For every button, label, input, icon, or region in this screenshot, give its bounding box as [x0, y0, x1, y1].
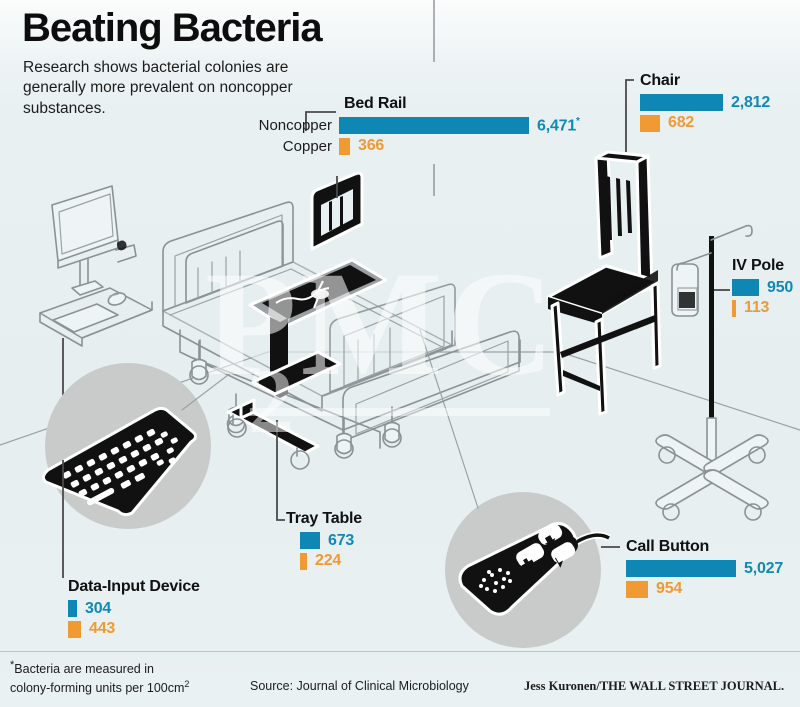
callout-chair-title: Chair: [640, 72, 770, 90]
bed-caster: [335, 418, 353, 458]
bar-row-copper: 682: [640, 114, 770, 132]
bar-copper: [339, 138, 350, 155]
callout-data-input-device: Data-Input Device 304 443: [68, 578, 200, 638]
bar-row-copper: 113: [732, 299, 793, 317]
callout-tray-table-title: Tray Table: [286, 510, 362, 528]
page-title: Beating Bacteria: [22, 8, 322, 48]
callout-iv-pole-title: IV Pole: [732, 257, 793, 275]
callout-tray-table: Tray Table 673 224: [286, 510, 362, 570]
callout-data-input-device-title: Data-Input Device: [68, 578, 200, 596]
bar-noncopper: [339, 117, 529, 134]
value-copper: 443: [81, 620, 115, 638]
source-credit: Source: Journal of Clinical Microbiology: [250, 678, 469, 695]
legend-label-noncopper: Noncopper: [244, 117, 339, 134]
bar-noncopper: [732, 279, 759, 296]
bar-row-copper: 443: [68, 620, 200, 638]
footnote: *Bacteria are measured in colony-forming…: [10, 658, 225, 697]
call-button-inset: [420, 330, 620, 648]
value-copper: 682: [660, 114, 694, 132]
callout-bed-rail: Bed Rail Noncopper 6,471* Copper 366: [344, 95, 580, 155]
footnote-line2: colony-forming units per 100cm: [10, 681, 184, 695]
value-noncopper: 304: [77, 600, 111, 618]
page-subtitle: Research shows bacterial colonies are ge…: [23, 58, 313, 119]
data-input-device-inset: [43, 363, 232, 578]
footer-divider: [0, 651, 800, 652]
legend-label-copper: Copper: [244, 138, 339, 155]
callout-iv-pole: IV Pole 950 113: [732, 257, 793, 317]
bar-row-noncopper: 5,027: [626, 559, 783, 578]
bar-noncopper: [640, 94, 723, 111]
bar-row-noncopper: 673: [286, 531, 362, 550]
footnote-marker: *: [576, 116, 580, 127]
bar-row-noncopper: 2,812: [640, 93, 770, 112]
value-copper: 224: [307, 552, 341, 570]
bar-noncopper: [626, 560, 736, 577]
bar-row-noncopper: 950: [732, 278, 793, 297]
bar-row-copper: 954: [626, 580, 783, 598]
footnote-line1: Bacteria are measured in: [14, 662, 154, 676]
bar-noncopper: [300, 532, 320, 549]
bar-row-copper: Copper 366: [344, 137, 580, 155]
bar-row-noncopper: Noncopper 6,471*: [344, 116, 580, 135]
bar-copper: [640, 115, 660, 132]
hospital-bed-illustration: [163, 202, 520, 458]
callout-call-button-title: Call Button: [626, 538, 783, 556]
callout-call-button: Call Button 5,027 954: [626, 538, 783, 598]
bar-noncopper: [68, 600, 77, 617]
bar-copper: [68, 621, 81, 638]
callout-chair: Chair 2,812 682: [640, 72, 770, 132]
bed-caster: [190, 341, 208, 384]
value-copper: 113: [736, 299, 769, 317]
author-credit: Jess Kuronen/THE WALL STREET JOURNAL.: [524, 678, 784, 695]
bar-row-noncopper: 304: [68, 599, 200, 618]
value-noncopper: 6,471*: [529, 116, 580, 135]
value-noncopper: 5,027: [736, 560, 783, 578]
value-copper: 954: [648, 580, 682, 598]
bar-copper: [300, 553, 307, 570]
callout-bed-rail-title: Bed Rail: [344, 95, 580, 113]
infographic-canvas: .ln { fill:none; stroke:#8a9296; stroke-…: [0, 0, 800, 707]
bar-row-copper: 224: [286, 552, 362, 570]
bar-copper: [626, 581, 648, 598]
footnote-superscript: 2: [184, 679, 189, 689]
value-copper: 366: [350, 137, 384, 155]
value-noncopper: 950: [759, 279, 793, 297]
value-noncopper: 2,812: [723, 94, 770, 112]
value-noncopper: 673: [320, 532, 354, 550]
